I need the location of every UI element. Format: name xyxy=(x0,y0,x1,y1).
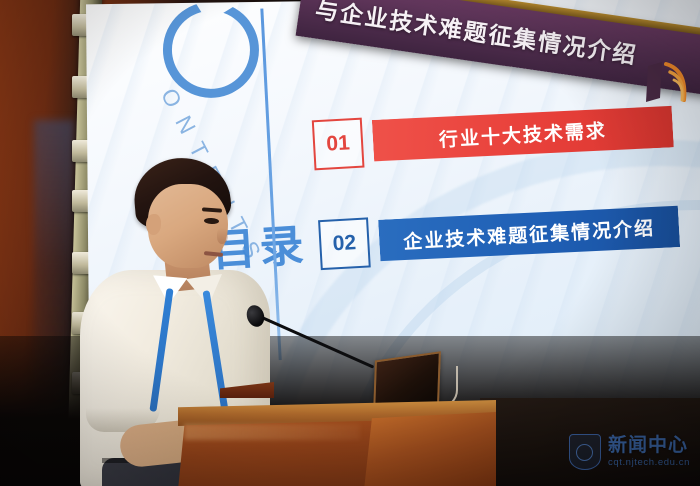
speaker-ear xyxy=(146,214,161,235)
podium xyxy=(178,378,508,486)
speaker-nose xyxy=(217,228,228,244)
podium-highlight xyxy=(184,424,360,440)
agenda-number-box-02: 02 xyxy=(318,217,371,270)
agenda-label-bar-02: 企业技术难题征集情况介绍 xyxy=(378,203,680,264)
agenda-item-01[interactable]: 01 行业十大技术需求 xyxy=(312,100,674,170)
agenda-label-bar-01: 行业十大技术需求 xyxy=(372,103,674,164)
watermark-text: 新闻中心 cqt.njtech.edu.cn xyxy=(608,436,690,468)
shield-emblem-icon xyxy=(569,434,601,470)
podium-side-panel xyxy=(364,412,496,486)
agenda-number-box-01: 01 xyxy=(312,118,365,171)
watermark: 新闻中心 cqt.njtech.edu.cn xyxy=(569,434,690,470)
watermark-title: 新闻中心 xyxy=(608,436,690,457)
presentation-photo-scene: ONTENTS 目录 01 行业十大技术需求 02 企业技术难题征集情况介绍 与… xyxy=(0,0,700,486)
agenda-item-02[interactable]: 02 企业技术难题征集情况介绍 xyxy=(318,200,680,270)
watermark-url: cqt.njtech.edu.cn xyxy=(608,458,690,468)
podium-microphone-base xyxy=(220,382,274,398)
orange-swoosh-icon xyxy=(642,58,694,106)
